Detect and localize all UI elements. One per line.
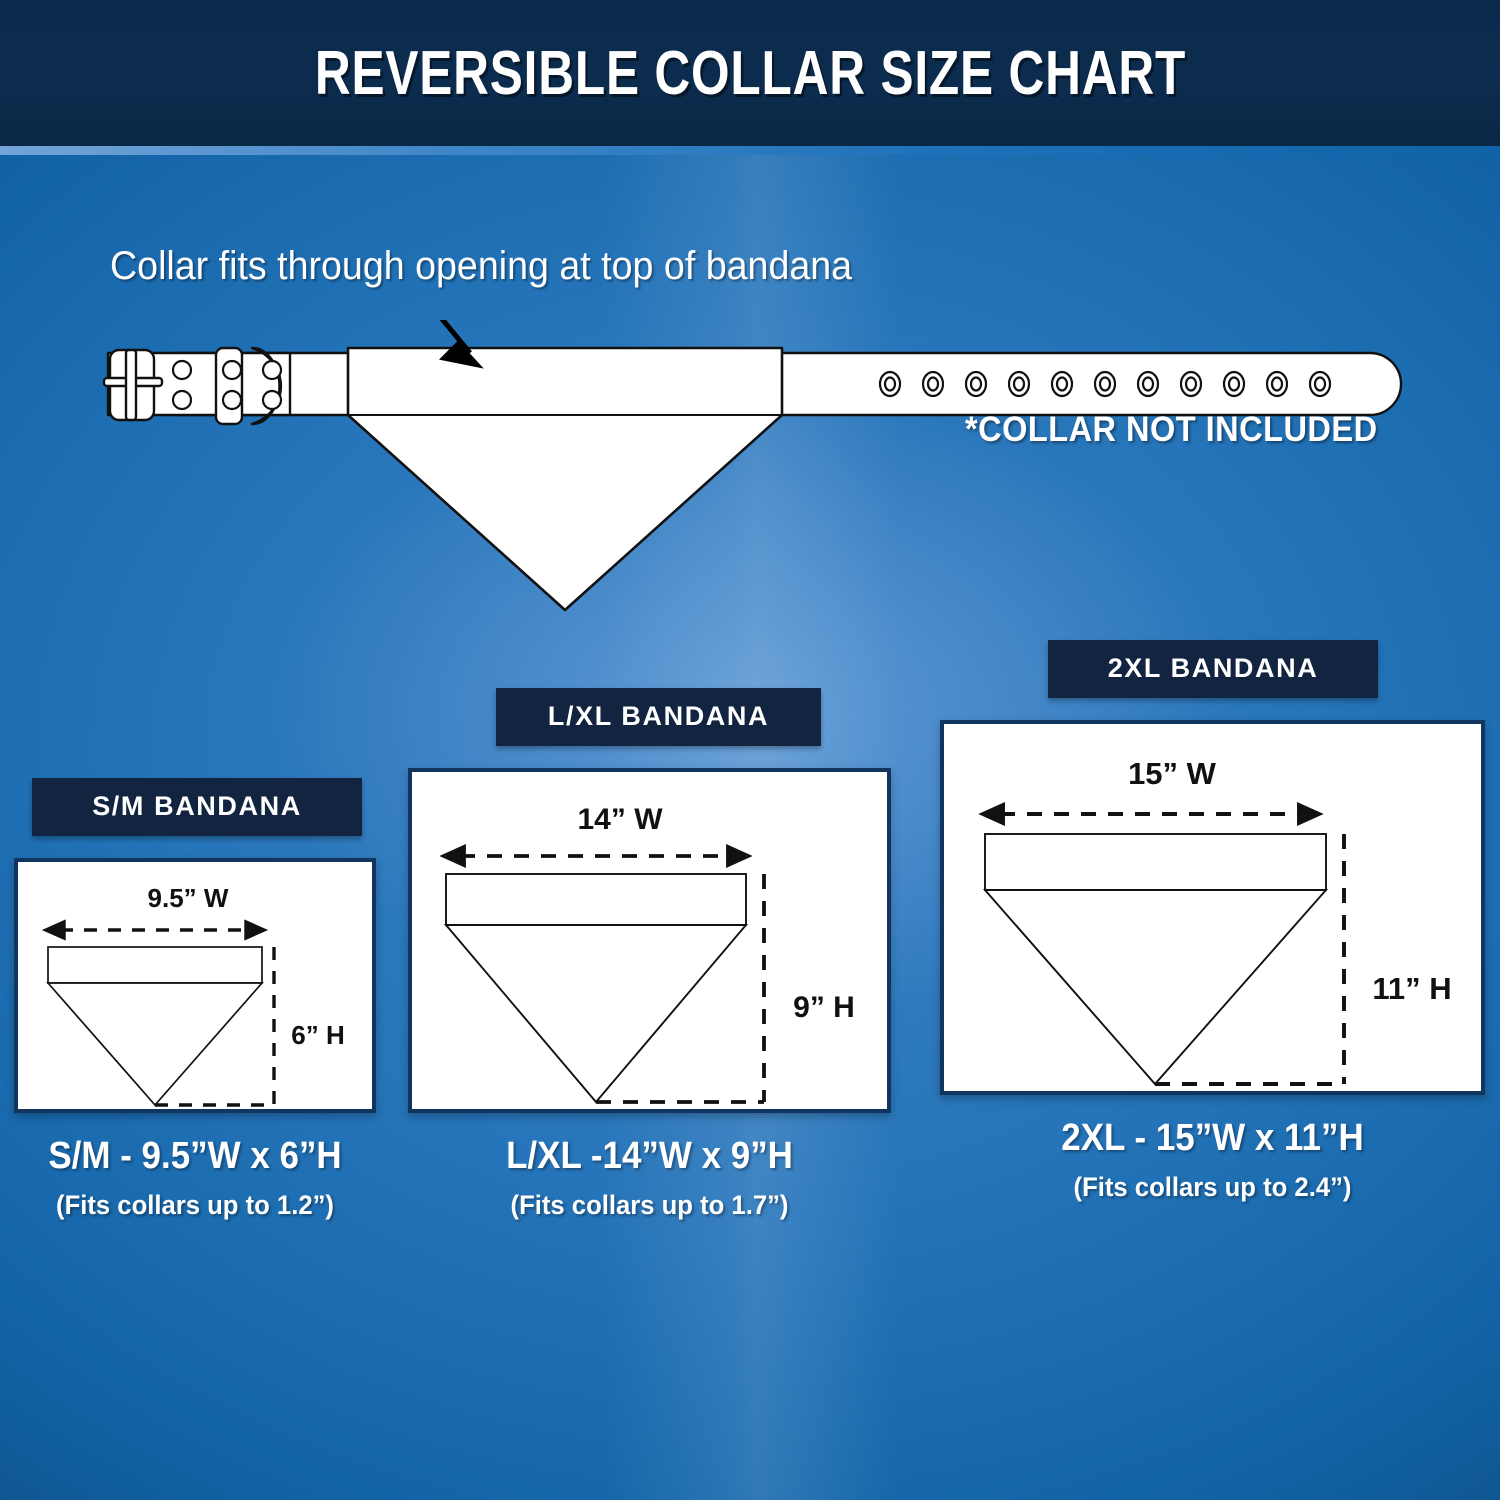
collar-not-included-note: *COLLAR NOT INCLUDED bbox=[965, 410, 1378, 450]
collar-illustration bbox=[0, 320, 1500, 640]
size-label-lxl: L/XL BANDANA bbox=[496, 688, 821, 746]
width-label-2xl: 15” W bbox=[1128, 756, 1217, 791]
size-label-sm: S/M BANDANA bbox=[32, 778, 362, 836]
collar-keeper-1 bbox=[216, 348, 242, 424]
page-header: REVERSIBLE COLLAR SIZE CHART bbox=[0, 0, 1500, 146]
header-underline bbox=[0, 146, 1500, 155]
size-caption-sub-sm: (Fits collars up to 1.2”) bbox=[23, 1190, 367, 1221]
size-block-sm: S/M BANDANA 9.5” W bbox=[14, 778, 376, 1221]
bandana-diagram-sm: 9.5” W 6” H bbox=[18, 862, 372, 1109]
height-label-2xl: 11” H bbox=[1372, 971, 1451, 1006]
width-label-sm: 9.5” W bbox=[148, 883, 229, 913]
size-block-lxl: L/XL BANDANA 14” W 9” H L bbox=[408, 688, 891, 1221]
size-card-2xl: 15” W 11” H bbox=[940, 720, 1485, 1095]
page-title: REVERSIBLE COLLAR SIZE CHART bbox=[314, 38, 1185, 109]
height-label-lxl: 9” H bbox=[793, 991, 855, 1024]
height-label-sm: 6” H bbox=[291, 1020, 344, 1050]
page-footer: PETS FIRST MADE FROM DURABLE FABRICS DES… bbox=[0, 1355, 1500, 1500]
size-caption-sub-2xl: (Fits collars up to 2.4”) bbox=[954, 1172, 1472, 1203]
size-block-2xl: 2XL BANDANA 15” W 11” H 2 bbox=[940, 640, 1485, 1203]
buckle-bar bbox=[126, 350, 136, 420]
size-card-lxl: 14” W 9” H bbox=[408, 768, 891, 1113]
size-card-sm: 9.5” W 6” H bbox=[14, 858, 376, 1113]
size-label-2xl: 2XL BANDANA bbox=[1048, 640, 1378, 698]
size-caption-main-2xl: 2XL - 15”W x 11”H bbox=[962, 1117, 1463, 1160]
size-caption-main-sm: S/M - 9.5”W x 6”H bbox=[28, 1135, 361, 1178]
bandana-diagram-lxl: 14” W 9” H bbox=[412, 772, 887, 1109]
bandana-diagram-2xl: 15” W 11” H bbox=[944, 724, 1481, 1091]
collar-instruction-text: Collar fits through opening at top of ba… bbox=[110, 244, 1163, 289]
bandana-shape bbox=[348, 348, 782, 610]
size-caption-main-lxl: L/XL -14”W x 9”H bbox=[427, 1135, 871, 1178]
collar-diagram-svg bbox=[0, 320, 1500, 640]
width-label-lxl: 14” W bbox=[577, 803, 663, 836]
size-chart-page: REVERSIBLE COLLAR SIZE CHART Collar fits… bbox=[0, 0, 1500, 1500]
size-caption-sub-lxl: (Fits collars up to 1.7”) bbox=[420, 1190, 879, 1221]
